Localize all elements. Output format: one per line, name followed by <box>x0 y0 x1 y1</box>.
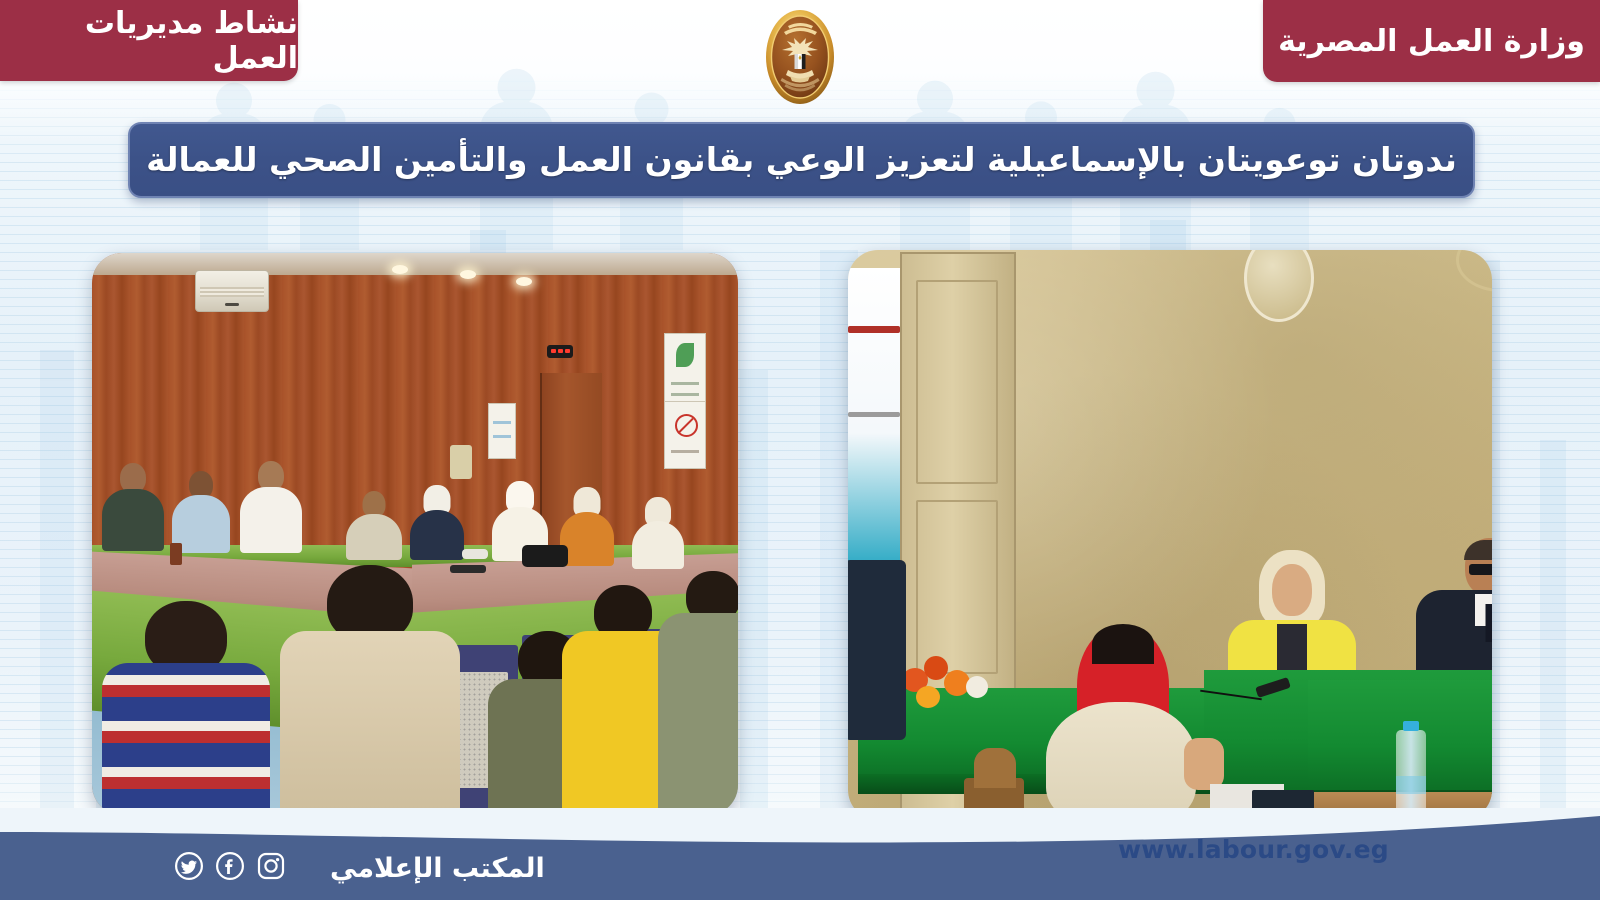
attendee <box>240 461 302 553</box>
footer: المكتب الإعلامي www.labour.gov.eg <box>0 808 1600 900</box>
ceiling-light <box>460 270 476 279</box>
water-bottle <box>1396 730 1426 820</box>
attendee <box>172 471 230 553</box>
wall-notice <box>488 403 516 459</box>
wall-banner <box>848 268 904 568</box>
media-office-label: المكتب الإعلامي <box>330 853 545 884</box>
equipment-case <box>848 560 906 740</box>
headline-banner: ندوتان توعويتان بالإسماعيلية لتعزيز الوع… <box>128 122 1475 198</box>
tissue-box <box>450 445 472 479</box>
page-title: ندوتان توعويتان بالإسماعيلية لتعزيز الوع… <box>146 141 1457 179</box>
website-url[interactable]: www.labour.gov.eg <box>1118 835 1389 864</box>
wooden-chair-top <box>974 748 1016 788</box>
twitter-icon[interactable] <box>175 852 203 880</box>
attendee <box>102 463 164 551</box>
ministry-of-labour-seal-icon <box>748 4 852 108</box>
instagram-glyph <box>257 852 285 880</box>
attendee-back <box>102 601 270 815</box>
social-links[interactable] <box>175 852 285 880</box>
activity-ribbon-label: نشاط مديريات العمل <box>0 6 298 76</box>
attendee <box>410 485 464 557</box>
no-smoking-poster <box>664 401 706 469</box>
attendee <box>346 491 402 557</box>
poster-canvas: نشاط مديريات العمل وزارة العمل المصرية <box>0 0 1600 900</box>
ministry-ribbon: وزارة العمل المصرية <box>1263 0 1600 82</box>
ceiling-light <box>392 265 408 274</box>
ministry-ribbon-label: وزارة العمل المصرية <box>1278 24 1585 59</box>
attendee <box>560 487 614 563</box>
twitter-glyph <box>175 852 203 880</box>
digital-clock <box>547 345 573 358</box>
ceiling-light <box>516 277 532 286</box>
ac-display <box>225 303 239 306</box>
attendee-back <box>280 565 460 815</box>
instagram-icon[interactable] <box>257 852 285 880</box>
hand <box>1184 738 1224 790</box>
air-conditioner <box>195 270 269 312</box>
ceiling-strip <box>92 253 738 275</box>
papers <box>462 549 488 559</box>
cup <box>170 543 182 565</box>
photo-right <box>848 250 1492 820</box>
phone-audience <box>1252 790 1314 810</box>
attendee <box>632 497 684 567</box>
facebook-icon[interactable] <box>216 852 244 880</box>
flower-bouquet <box>900 654 1010 714</box>
camera-bag <box>522 545 568 567</box>
facebook-glyph <box>216 852 244 880</box>
attendee-back <box>658 571 738 815</box>
ac-vent <box>200 287 263 297</box>
phone-on-table <box>450 565 486 573</box>
seal-svg <box>748 4 852 108</box>
activity-ribbon: نشاط مديريات العمل <box>0 0 298 81</box>
photo-left <box>92 253 738 815</box>
